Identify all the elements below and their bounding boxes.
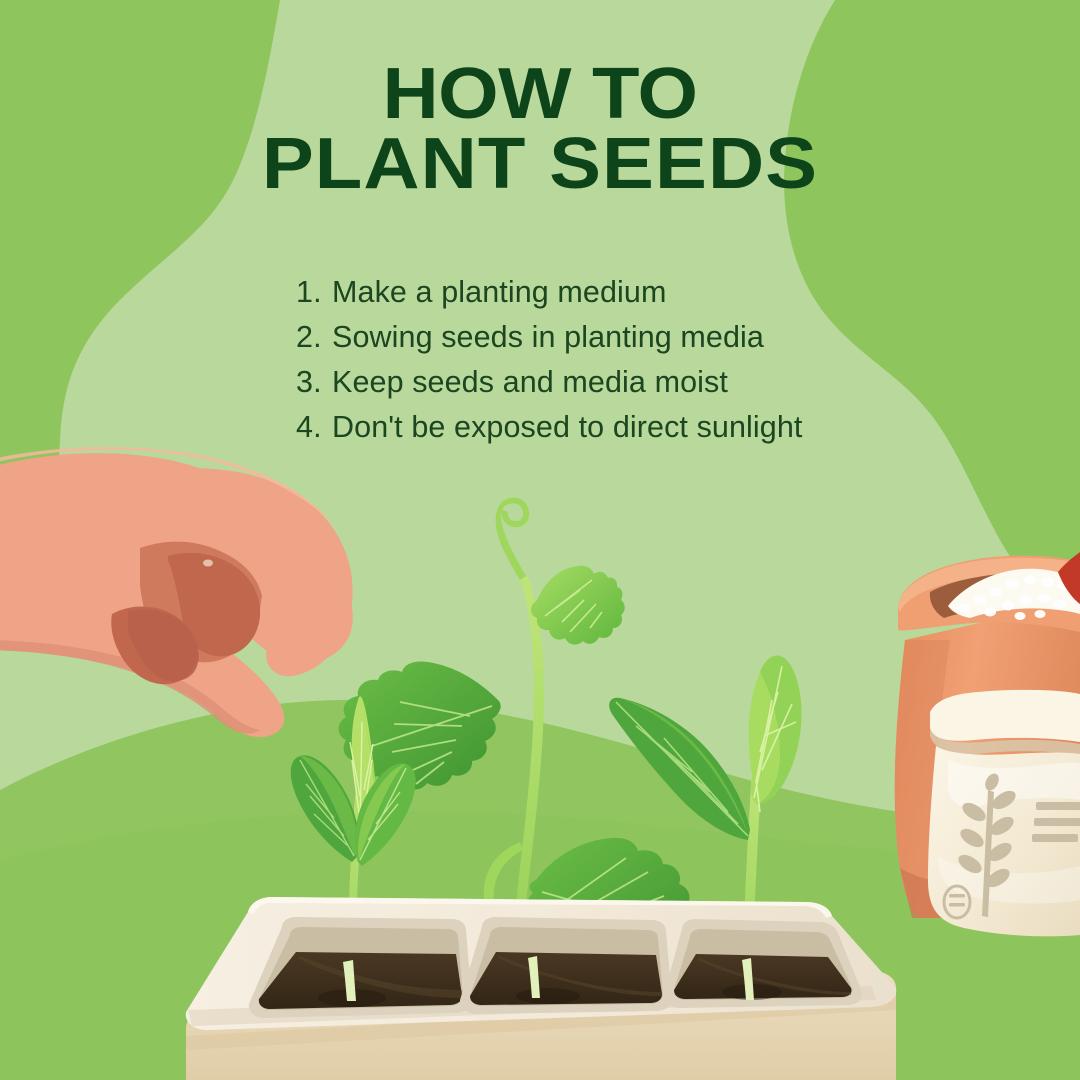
tray-cell-3 (664, 919, 862, 1008)
tray-cell-1 (249, 917, 472, 1018)
tray-cell-2 (460, 917, 672, 1014)
seed-tray (0, 0, 1080, 1080)
seed-starter-tray (186, 897, 897, 1080)
infographic-poster: HOW TO PLANT SEEDS 1. Make a planting me… (0, 0, 1080, 1080)
